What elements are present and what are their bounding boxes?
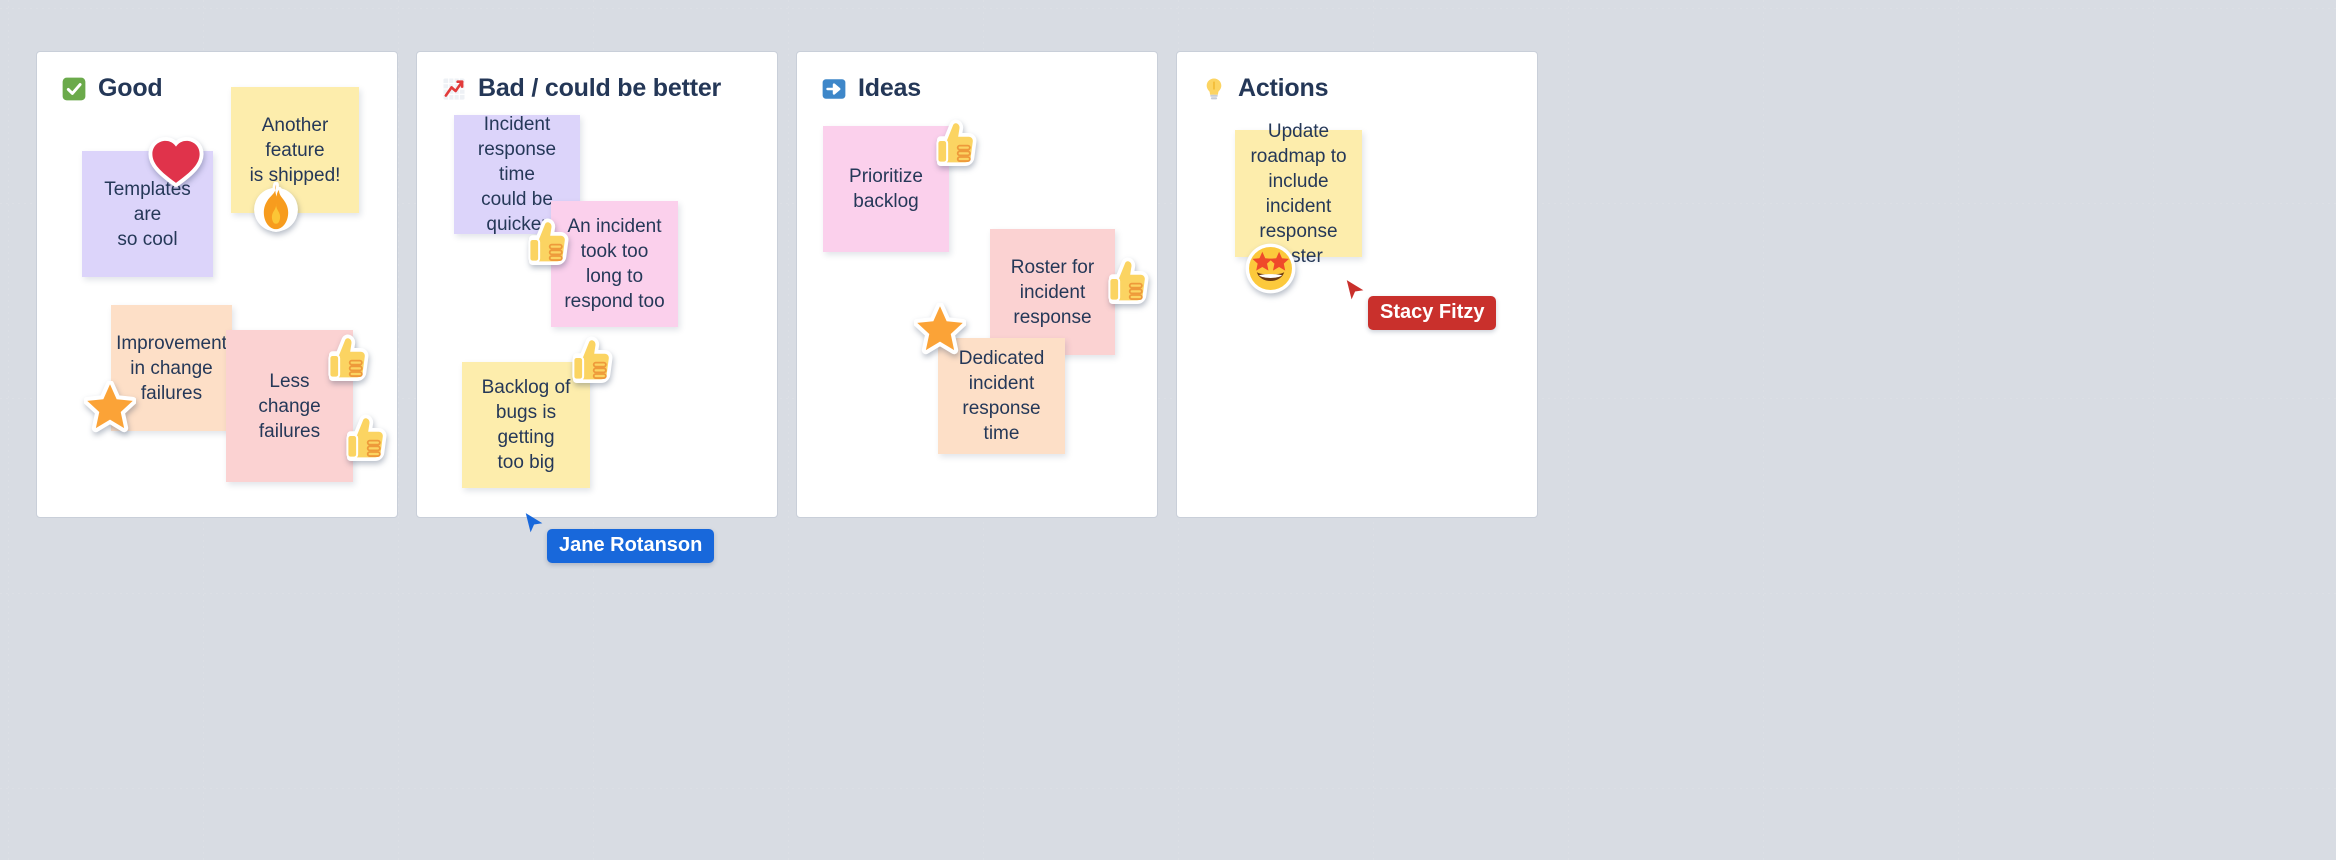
sticky-note-line: in change	[116, 356, 227, 381]
sticky-note-prioritize-backlog[interactable]: Prioritizebacklog	[823, 126, 949, 252]
sticky-note-text: Less changefailures	[238, 369, 341, 444]
grid-line-vertical	[1763, 0, 1764, 860]
sticky-note-line: Improvement	[116, 331, 227, 356]
sticky-note-line: so cool	[94, 227, 201, 252]
sticky-note-text: Templates areso cool	[94, 177, 201, 252]
light-bulb-icon	[1201, 76, 1227, 102]
column-header-bad-could-be-better: Bad / could be better	[441, 74, 721, 103]
cursor-pointer-icon	[1345, 279, 1366, 304]
sticky-note-line: Incident	[466, 112, 568, 137]
column-title-actions: Actions	[1238, 74, 1328, 103]
sticky-note-text: An incidenttook too long torespond too	[563, 214, 666, 314]
sticky-note-line: Templates are	[94, 177, 201, 227]
sticky-note-line: incident	[1011, 280, 1094, 305]
sticky-note-line: include incident	[1247, 169, 1350, 219]
sticky-note-an-incident-took-too-long-to-respond-too[interactable]: An incidenttook too long torespond too	[551, 201, 678, 327]
grid-line-horizontal	[0, 593, 2336, 594]
grid-line-vertical	[1958, 0, 1959, 860]
cursor-name-label: Jane Rotanson	[547, 529, 714, 563]
sticky-note-backlog-of-bugs-is-getting-too-big[interactable]: Backlog ofbugs is gettingtoo big	[462, 362, 590, 488]
sticky-note-dedicated-incident-response-time[interactable]: Dedicatedincidentresponse time	[938, 338, 1065, 454]
sticky-note-line: failures	[238, 419, 341, 444]
sticky-note-text: Updateroadmap toinclude incidentresponse…	[1247, 119, 1350, 269]
column-header-good: Good	[61, 74, 162, 103]
sticky-note-line: response time	[950, 396, 1053, 446]
sticky-note-another-feature-is-shipped[interactable]: Another featureis shipped!	[231, 87, 359, 213]
sticky-note-less-change-failures[interactable]: Less changefailures	[226, 330, 353, 482]
sticky-note-line: response time	[466, 137, 568, 187]
sticky-note-line: An incident	[563, 214, 666, 239]
sticky-note-line: respond too	[563, 289, 666, 314]
column-title-ideas: Ideas	[858, 74, 921, 103]
sticky-note-text: Prioritizebacklog	[849, 164, 923, 214]
sticky-note-roster-for-incident-response[interactable]: Roster forincidentresponse	[990, 229, 1115, 355]
sticky-note-line: backlog	[849, 189, 923, 214]
sticky-note-line: Less change	[238, 369, 341, 419]
sticky-note-text: Dedicatedincidentresponse time	[950, 346, 1053, 446]
cursor-name-label: Stacy Fitzy	[1368, 296, 1496, 330]
sticky-note-line: failures	[116, 381, 227, 406]
white-check-mark-icon	[61, 76, 87, 102]
sticky-note-line: response roster	[1247, 219, 1350, 269]
grid-line-vertical	[398, 0, 399, 860]
sticky-note-line: took too long to	[563, 239, 666, 289]
sticky-note-line: response	[1011, 305, 1094, 330]
column-header-actions: Actions	[1201, 74, 1328, 103]
grid-line-vertical	[1568, 0, 1569, 860]
grid-line-horizontal	[0, 8, 2336, 9]
sticky-note-line: Another feature	[243, 113, 347, 163]
sticky-note-templates-are-so-cool[interactable]: Templates areso cool	[82, 151, 213, 277]
sticky-note-line: is shipped!	[243, 163, 347, 188]
cursor-pointer-icon	[524, 512, 545, 537]
sticky-note-line: Dedicated	[950, 346, 1053, 371]
grid-line-horizontal	[0, 788, 2336, 789]
grid-line-vertical	[2153, 0, 2154, 860]
sticky-note-line: too big	[474, 450, 578, 475]
sticky-note-text: Improvementin changefailures	[116, 331, 227, 406]
grid-line-vertical	[8, 0, 9, 860]
column-title-bad-could-be-better: Bad / could be better	[478, 74, 721, 103]
column-header-ideas: Ideas	[821, 74, 921, 103]
stacy-fitzy-cursor: Stacy Fitzy	[1345, 279, 1496, 330]
sticky-note-line: Roster for	[1011, 255, 1094, 280]
chart-increasing-icon	[441, 76, 467, 102]
sticky-note-improvement-in-change-failures[interactable]: Improvementin changefailures	[111, 305, 232, 431]
sticky-note-line: Update	[1247, 119, 1350, 144]
sticky-note-text: Backlog ofbugs is gettingtoo big	[474, 375, 578, 475]
column-title-good: Good	[98, 74, 162, 103]
grid-line-vertical	[788, 0, 789, 860]
sticky-note-line: Backlog of	[474, 375, 578, 400]
sticky-note-line: incident	[950, 371, 1053, 396]
sticky-note-line: bugs is getting	[474, 400, 578, 450]
sticky-note-text: Another featureis shipped!	[243, 113, 347, 188]
sticky-note-update-roadmap-to-include-incident-response-roster[interactable]: Updateroadmap toinclude incidentresponse…	[1235, 130, 1362, 257]
sticky-note-line: roadmap to	[1247, 144, 1350, 169]
arrow-right-icon	[821, 76, 847, 102]
jane-rotanson-cursor: Jane Rotanson	[524, 512, 714, 563]
sticky-note-text: Roster forincidentresponse	[1011, 255, 1094, 330]
sticky-note-line: Prioritize	[849, 164, 923, 189]
